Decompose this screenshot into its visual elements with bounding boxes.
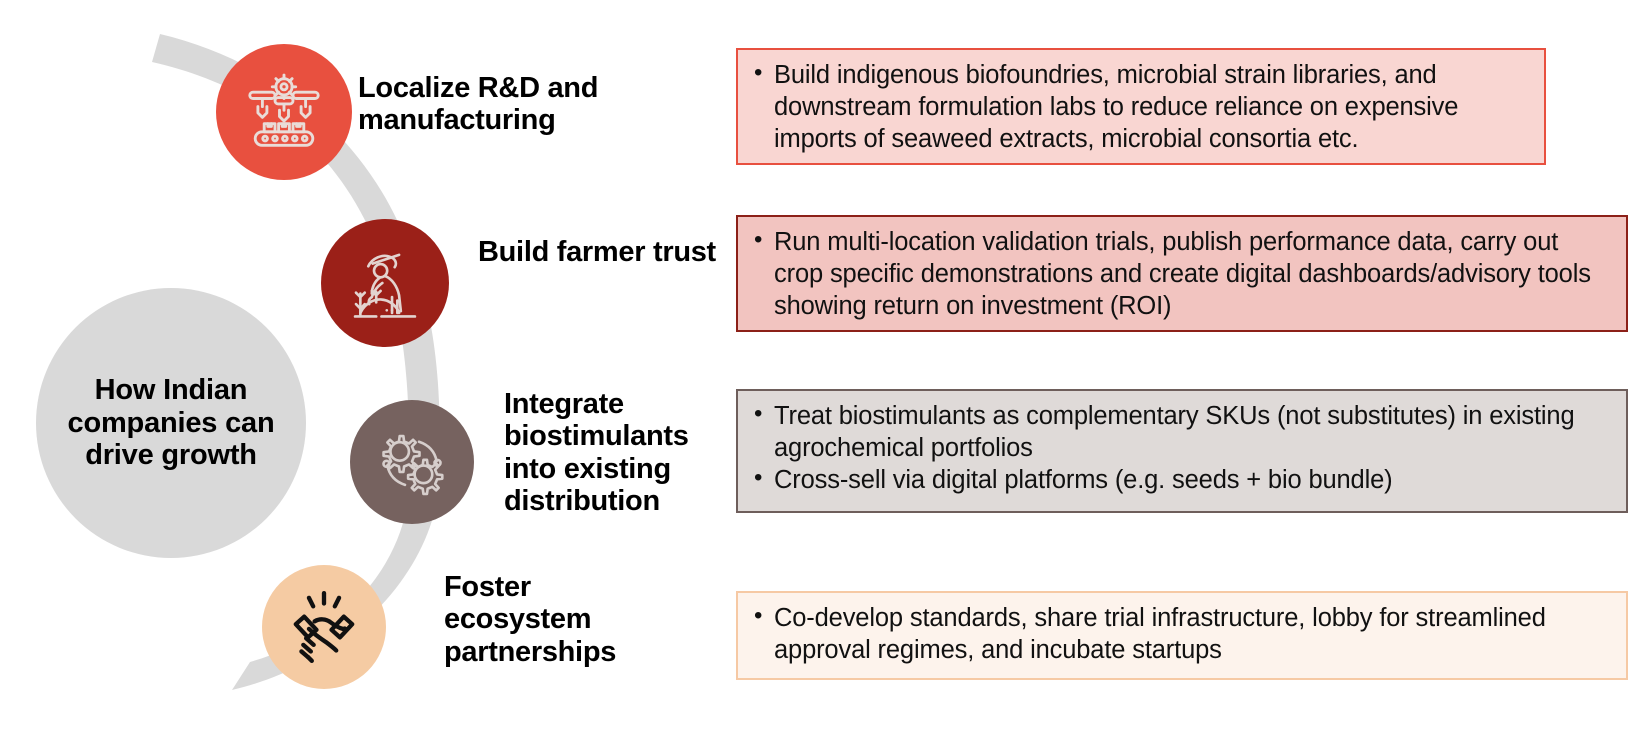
step-circle-integrate-distribution[interactable]: [350, 400, 474, 524]
handshake-icon: [277, 580, 371, 674]
bullet-box-ecosystem-partnerships: Co-develop standards, share trial infras…: [736, 591, 1628, 680]
factory-robot-arm-conveyor-icon: [239, 67, 329, 157]
step-label-ecosystem-partnerships: Foster ecosystem partnerships: [444, 571, 674, 668]
bullet-list: Treat biostimulants as complementary SKU…: [750, 400, 1612, 496]
step-label-localize-rnd: Localize R&D and manufacturing: [358, 72, 658, 137]
bullet-list: Co-develop standards, share trial infras…: [750, 602, 1612, 666]
bullet-item: Treat biostimulants as complementary SKU…: [750, 400, 1612, 464]
bullet-item: Run multi-location validation trials, pu…: [750, 226, 1612, 322]
step-circle-farmer-trust[interactable]: [321, 219, 449, 347]
step-label-farmer-trust: Build farmer trust: [478, 236, 728, 268]
bullet-box-farmer-trust: Run multi-location validation trials, pu…: [736, 215, 1628, 332]
bullet-item: Build indigenous biofoundries, microbial…: [750, 59, 1530, 155]
step-circle-localize-rnd[interactable]: [216, 44, 352, 180]
hub-title: How Indian companies can drive growth: [36, 374, 306, 471]
bullet-item: Co-develop standards, share trial infras…: [750, 602, 1612, 666]
central-hub: How Indian companies can drive growth: [36, 288, 306, 558]
bullet-box-integrate-distribution: Treat biostimulants as complementary SKU…: [736, 389, 1628, 513]
bullet-box-localize-rnd: Build indigenous biofoundries, microbial…: [736, 48, 1546, 165]
bullet-item: Cross-sell via digital platforms (e.g. s…: [750, 464, 1612, 496]
infographic-canvas: How Indian companies can drive growth: [0, 0, 1647, 731]
connected-gears-icon: [368, 418, 456, 506]
step-circle-ecosystem-partnerships[interactable]: [262, 565, 386, 689]
step-label-integrate-distribution: Integrate biostimulants into existing di…: [504, 388, 719, 518]
bullet-list: Run multi-location validation trials, pu…: [750, 226, 1612, 322]
farmer-planting-crops-icon: [341, 239, 429, 327]
bullet-list: Build indigenous biofoundries, microbial…: [750, 59, 1530, 155]
